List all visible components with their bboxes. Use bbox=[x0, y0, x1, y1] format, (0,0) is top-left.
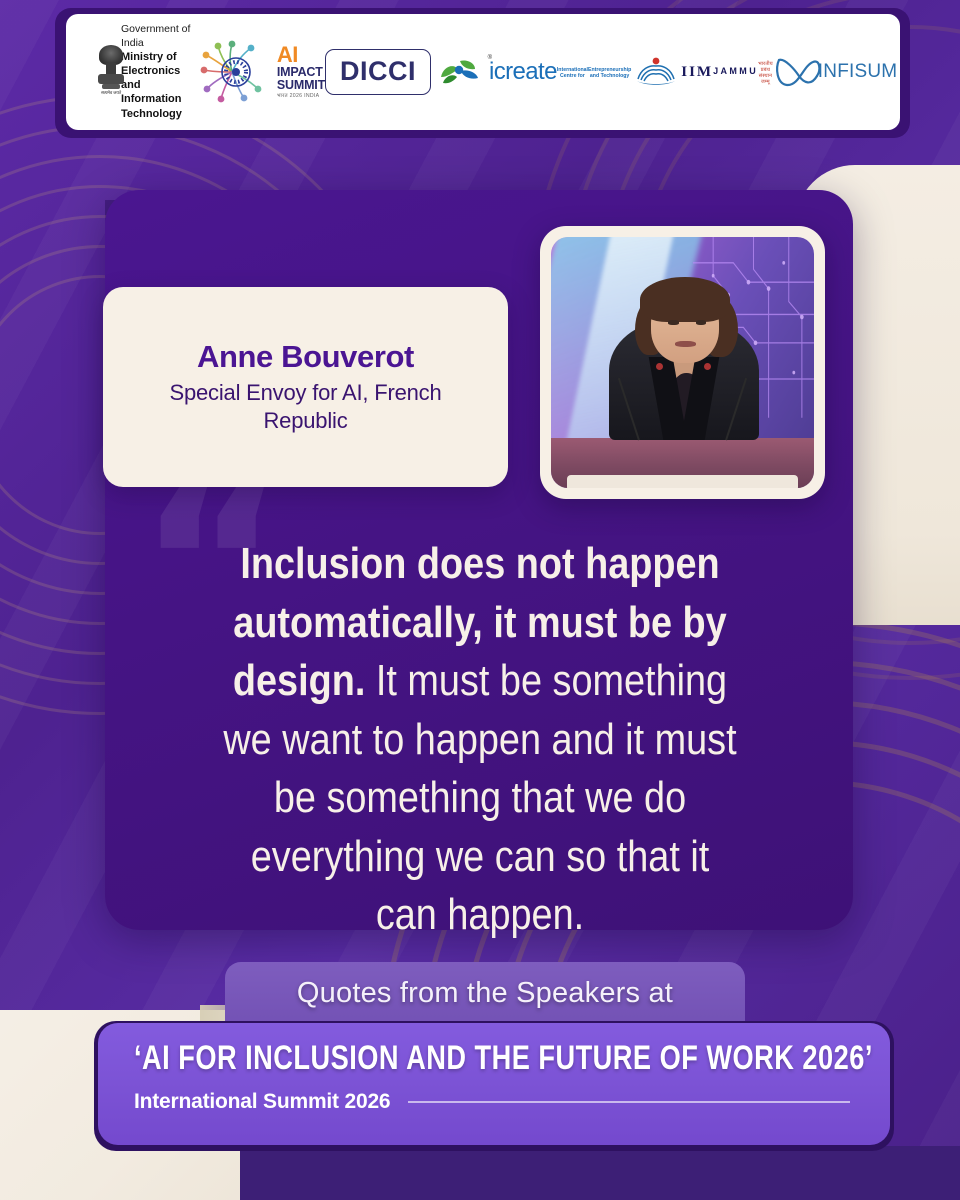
poster-canvas: सत्यमेव जयते Government of India Ministr… bbox=[0, 0, 960, 1200]
speaker-name: Anne Bouverot bbox=[197, 339, 414, 375]
infisum-logo: INFISUM bbox=[773, 52, 898, 92]
speaker-photo-frame bbox=[540, 226, 825, 499]
meity-line-2: Ministry of Electronics and bbox=[121, 50, 196, 92]
quotes-tab-label: Quotes from the Speakers at bbox=[297, 977, 673, 1010]
ai-impact-summit-logo: AI IMPACT SUMMIT भारत 2026 INDIA bbox=[196, 39, 325, 105]
icreate-subtitle-1: International Centre for bbox=[557, 67, 588, 80]
icreate-registered-mark: ® bbox=[488, 55, 492, 61]
infisum-logo-text: INFISUM bbox=[818, 61, 898, 83]
infisum-infinity-icon bbox=[773, 52, 821, 92]
summit-banner-rule bbox=[408, 1101, 850, 1103]
emblem-motto: सत्यमेव जयते bbox=[96, 90, 126, 96]
icreate-subtitle-2: Entrepreneurship and Technology bbox=[588, 67, 631, 80]
iim-text: IIM bbox=[681, 65, 713, 80]
meity-line-3: Information Technology bbox=[121, 92, 196, 120]
iim-jammu-crest-icon bbox=[631, 57, 681, 87]
partner-logo-bar: सत्यमेव जयते Government of India Ministr… bbox=[66, 14, 900, 130]
ai-impact-summit-summit-text: SUMMIT bbox=[277, 79, 325, 92]
meity-line-1: Government of India bbox=[121, 23, 196, 50]
speaker-name-card: Anne Bouverot Special Envoy for AI, Fren… bbox=[103, 287, 508, 487]
government-of-india-meity-logo: सत्यमेव जयते Government of India Ministr… bbox=[96, 23, 196, 120]
ai-impact-summit-ai-text: AI bbox=[277, 44, 325, 66]
ai-impact-summit-neural-icon bbox=[196, 39, 270, 105]
summit-banner-title: ‘AI FOR INCLUSION AND THE FUTURE OF WORK… bbox=[134, 1039, 710, 1078]
speaker-photo bbox=[551, 237, 814, 488]
ai-impact-summit-tagline: भारत 2026 INDIA bbox=[277, 94, 325, 99]
icreate-logo-text: icreate bbox=[489, 61, 557, 84]
decorative-dark-footer-band bbox=[230, 1146, 960, 1200]
jammu-text: JAMMU bbox=[713, 66, 758, 78]
summit-banner-subtitle: International Summit 2026 bbox=[134, 1090, 390, 1114]
quote-text: Inclusion does not happen automatically,… bbox=[218, 535, 743, 945]
iim-jammu-logo: IIM JAMMU भारतीय प्रबंध संस्थान जम्मू bbox=[631, 57, 773, 88]
speaker-role: Special Envoy for AI, French Republic bbox=[129, 379, 482, 435]
ashoka-emblem-icon: सत्यमेव जयते bbox=[96, 43, 112, 101]
dicci-logo-text: DICCI bbox=[325, 49, 431, 95]
icreate-logo: ® icreate International Centre for Entre… bbox=[431, 57, 631, 87]
dicci-logo: DICCI bbox=[325, 49, 431, 95]
summit-banner: ‘AI FOR INCLUSION AND THE FUTURE OF WORK… bbox=[98, 1023, 890, 1145]
icreate-leaf-icon: ® bbox=[431, 57, 489, 87]
iim-jammu-hindi-text: भारतीय प्रबंध संस्थान जम्मू bbox=[758, 61, 773, 85]
quotes-tab: Quotes from the Speakers at bbox=[225, 962, 745, 1024]
